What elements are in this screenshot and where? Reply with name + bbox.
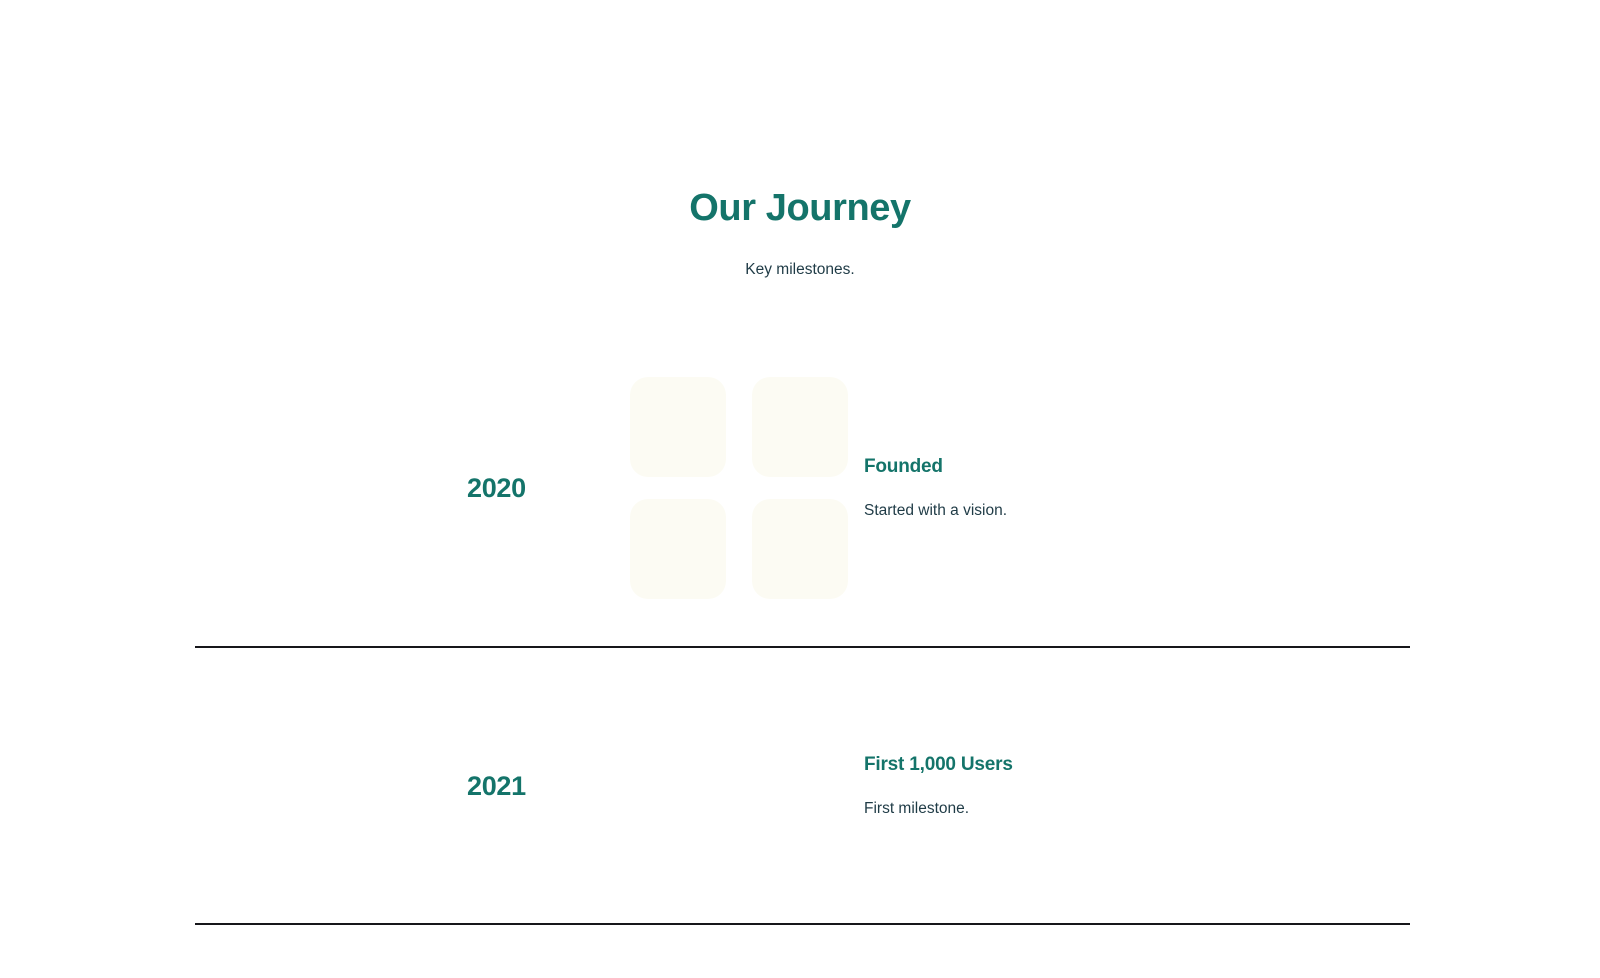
timeline-year-column: 2021: [195, 648, 627, 923]
timeline-year-column: 2020: [195, 330, 627, 646]
timeline-heading: Founded: [864, 454, 1410, 480]
timeline-heading: First 1,000 Users: [864, 752, 1410, 778]
timeline-row: 2021 First 1,000 Users First milestone.: [195, 648, 1410, 925]
timeline-year-label: 2021: [467, 770, 526, 802]
tile-top-left: [630, 377, 726, 477]
page-title: Our Journey: [0, 185, 1600, 231]
timeline-year-label: 2020: [467, 472, 526, 504]
timeline-list: 2020 Founded Started with a vision. 2021: [195, 330, 1410, 925]
media-tile-grid: [630, 377, 848, 599]
timeline-description: Started with a vision.: [864, 480, 1410, 522]
our-journey-page: Our Journey Key milestones. 2020 Founded…: [0, 0, 1600, 978]
timeline-media-column: [627, 648, 822, 923]
journey-header: Our Journey Key milestones.: [0, 185, 1600, 281]
timeline-text-column: Founded Started with a vision.: [822, 330, 1410, 646]
timeline-description: First milestone.: [864, 778, 1410, 820]
tile-bottom-left: [630, 499, 726, 599]
page-subtitle: Key milestones.: [0, 231, 1600, 281]
timeline-media-column: [627, 330, 822, 646]
timeline-text-column: First 1,000 Users First milestone.: [822, 648, 1410, 923]
timeline-row: 2020 Founded Started with a vision.: [195, 330, 1410, 648]
